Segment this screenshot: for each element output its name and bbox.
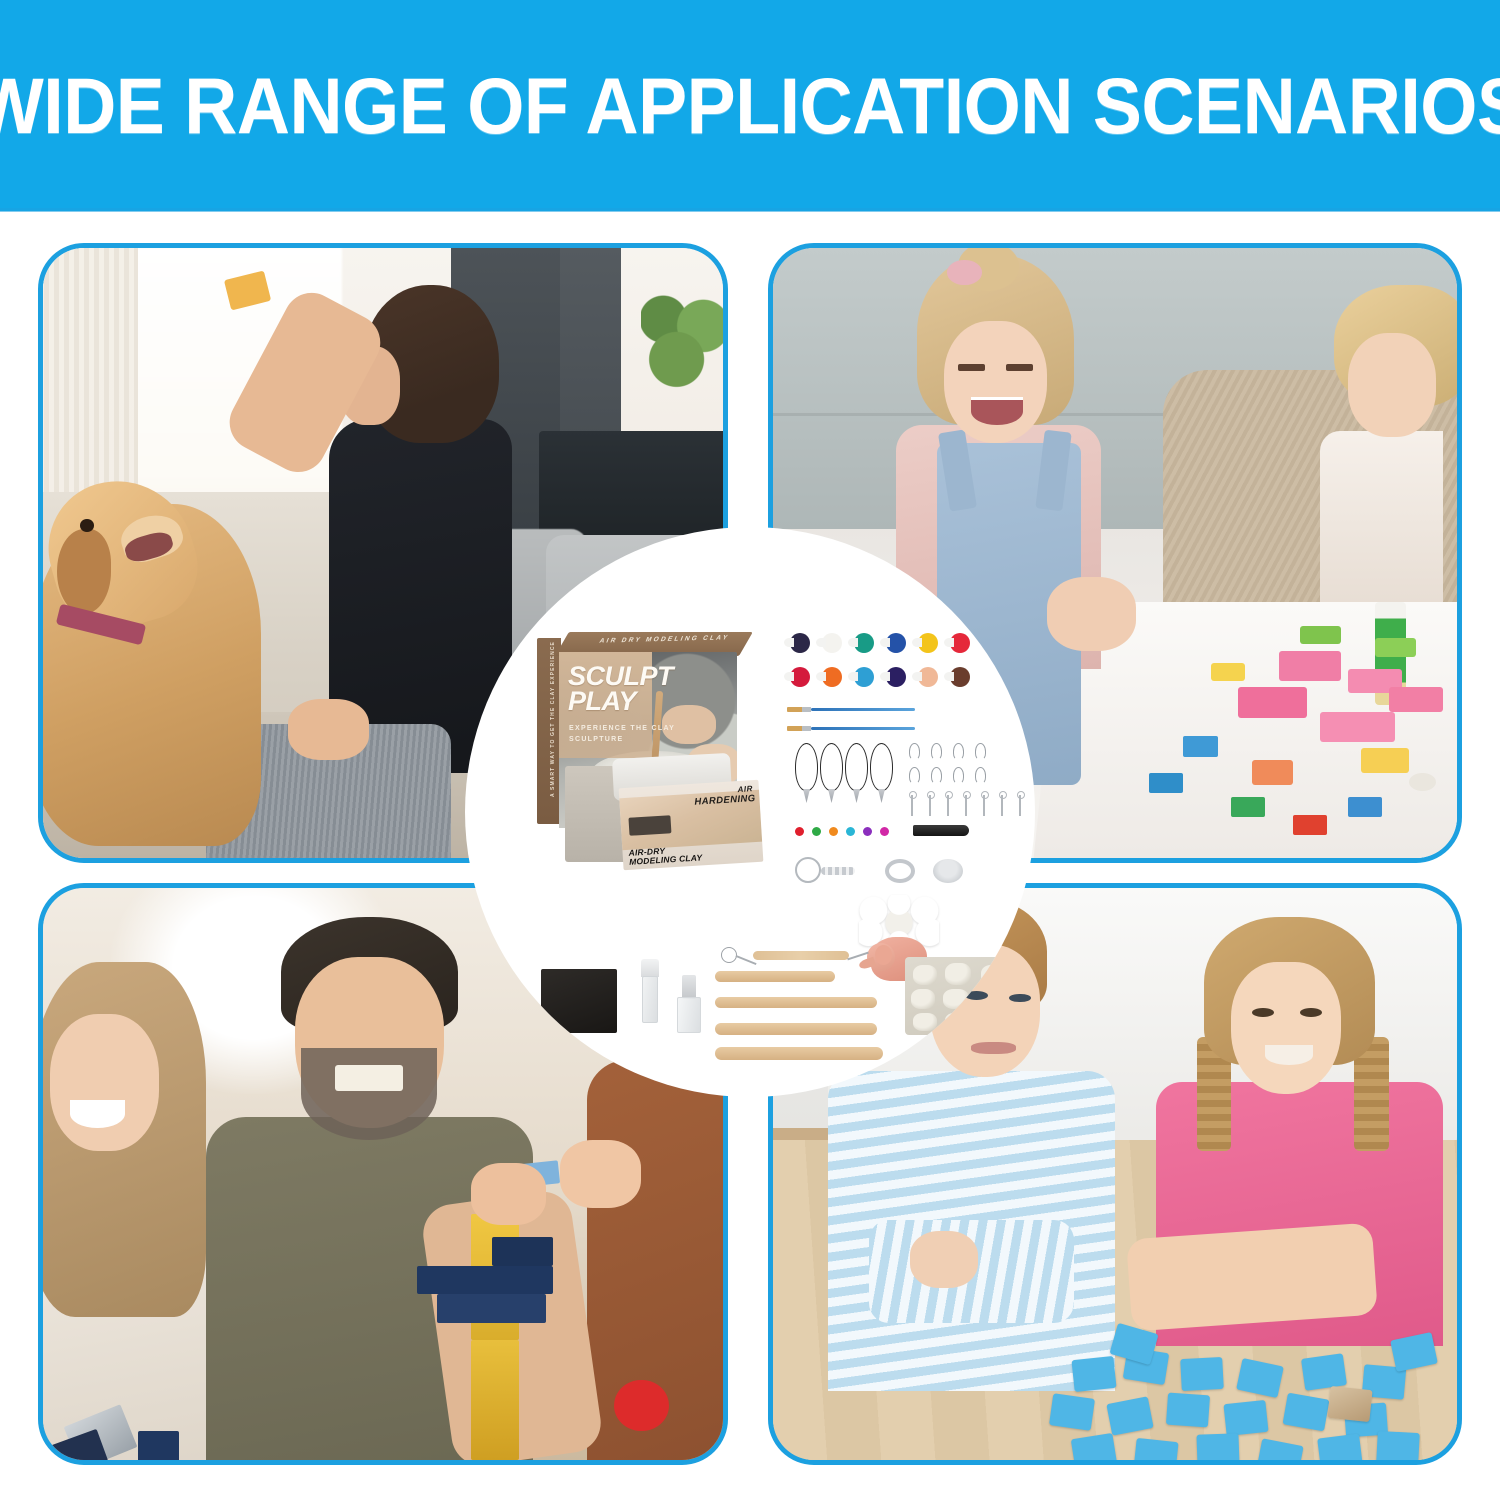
memory-card <box>1376 1431 1420 1465</box>
eye-pin <box>947 795 949 816</box>
brooch-base <box>933 859 963 883</box>
wooden-sculpting-tool <box>715 997 877 1008</box>
earring-hook <box>931 767 942 784</box>
eye-pin <box>1001 795 1003 816</box>
bead <box>812 827 821 836</box>
mother-face <box>50 1014 159 1151</box>
boy-hand <box>910 1231 978 1288</box>
paint-pot <box>790 667 810 687</box>
memory-card <box>1071 1433 1117 1465</box>
paint-pot <box>790 633 810 653</box>
paint-pots-row-2 <box>790 667 970 687</box>
paint-pot <box>854 633 874 653</box>
girl-face <box>944 321 1047 443</box>
earring-hook <box>953 767 964 784</box>
paint-pot <box>886 667 906 687</box>
memory-card <box>1301 1353 1347 1391</box>
key-ring <box>795 857 821 883</box>
box-tagline: EXPERIENCE THE CLAY SCULPTURE <box>569 724 675 745</box>
earring-hook <box>953 743 964 760</box>
box-side-text: A SMART WAY TO GET THE CLAY EXPERIENCE <box>550 639 556 799</box>
earring-hook <box>975 743 986 760</box>
key-chain <box>821 867 855 875</box>
clay-pack: AIR HARDENING AIR-DRY MODELING CLAY <box>565 782 763 874</box>
paint-pot <box>822 633 842 653</box>
hair-scrunchie <box>947 260 981 284</box>
ring-blank <box>885 859 915 883</box>
girl-face <box>1231 962 1340 1094</box>
paint-pot <box>886 633 906 653</box>
clay-pack-bottom-text: AIR-DRY MODELING CLAY <box>628 844 702 867</box>
phone-lanyard <box>820 743 843 791</box>
earring-hook <box>909 743 920 760</box>
memory-card <box>1223 1400 1268 1436</box>
paint-pot <box>822 667 842 687</box>
eye-pin <box>1019 795 1021 816</box>
paint-pot <box>950 633 970 653</box>
header-banner: WIDE RANGE OF APPLICATION SCENARIOS <box>0 0 1500 211</box>
earring-hook <box>931 743 942 760</box>
water-spray-bottle <box>639 959 661 1023</box>
paint-brush <box>787 726 915 731</box>
phone-lanyard <box>795 743 818 791</box>
paint-pots-row-1 <box>790 633 970 653</box>
box-side-panel: A SMART WAY TO GET THE CLAY EXPERIENCE <box>537 638 561 824</box>
eye-pin <box>983 795 985 816</box>
mother-face <box>1348 333 1437 437</box>
phone-lanyard <box>845 743 868 791</box>
bead <box>829 827 838 836</box>
paint-pot <box>918 667 938 687</box>
memory-card <box>1327 1386 1372 1422</box>
page-title: WIDE RANGE OF APPLICATION SCENARIOS <box>0 66 1500 145</box>
black-work-mat <box>541 969 617 1033</box>
product-kit-overlay[interactable]: A SMART WAY TO GET THE CLAY EXPERIENCE A… <box>465 527 1035 1097</box>
father-beard <box>301 1048 437 1140</box>
wooden-sculpting-tool <box>715 1023 877 1035</box>
memory-card <box>1196 1433 1239 1465</box>
memory-card <box>1166 1393 1210 1428</box>
box-brand-name: SCULPT PLAY <box>568 664 673 714</box>
loop-sculpting-tool <box>721 947 737 963</box>
hair-clip <box>913 825 969 836</box>
beads-row <box>795 827 889 836</box>
animal-silicone-mold <box>905 957 1027 1035</box>
double-ended-sculpting-tool <box>753 951 849 960</box>
bead <box>795 827 804 836</box>
wooden-sculpting-tool <box>715 971 835 982</box>
memory-card <box>1071 1356 1116 1392</box>
memory-card <box>1317 1434 1363 1465</box>
memory-card <box>1133 1438 1178 1465</box>
paint-brush <box>787 707 915 712</box>
houseplant <box>641 279 728 413</box>
girl-arms <box>1126 1223 1378 1331</box>
paint-pot <box>918 633 938 653</box>
eye-pin <box>965 795 967 816</box>
eye-pin <box>911 795 913 816</box>
paint-pot <box>854 667 874 687</box>
bead <box>846 827 855 836</box>
girl-hands <box>1047 577 1136 650</box>
bead <box>863 827 872 836</box>
earring-hook <box>909 767 920 784</box>
wooden-sculpting-tool <box>715 1047 883 1060</box>
phone-lanyard <box>870 743 893 791</box>
paint-pot <box>950 667 970 687</box>
varnish-bottle <box>677 975 701 1033</box>
eye-pin <box>929 795 931 816</box>
memory-card <box>1180 1357 1224 1391</box>
memory-card <box>1049 1393 1095 1431</box>
earring-hook <box>975 767 986 784</box>
bead <box>880 827 889 836</box>
